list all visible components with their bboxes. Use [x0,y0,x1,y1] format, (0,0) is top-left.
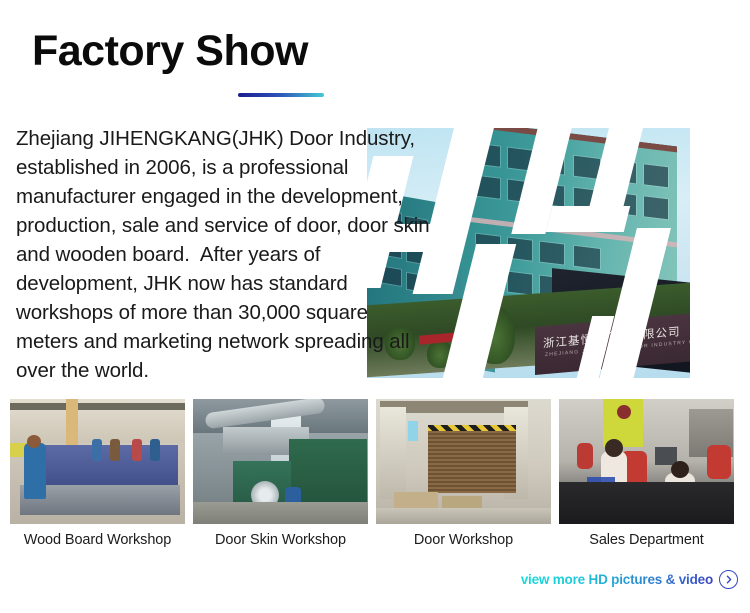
thumbnail-caption: Wood Board Workshop [10,532,185,548]
thumbnail-caption: Door Skin Workshop [193,532,368,548]
thumbnail-caption: Sales Department [559,532,734,548]
thumbnail-image[interactable] [559,399,734,524]
thumbnail-image[interactable] [376,399,551,524]
thumbnail-image[interactable] [193,399,368,524]
title-accent-rule [238,93,324,97]
thumbnail-image[interactable] [10,399,185,524]
thumbnail-sales-department[interactable]: Sales Department [559,399,734,548]
chevron-right-circle-icon[interactable] [719,570,738,589]
workshop-thumbnail-row: Wood Board Workshop Door Skin Workshop [10,399,740,548]
view-more-link[interactable]: view more HD pictures & video [521,570,738,589]
thumbnail-door-workshop[interactable]: Door Workshop [376,399,551,548]
thumbnail-caption: Door Workshop [376,532,551,548]
view-more-label: view more HD pictures & video [521,572,713,587]
thumbnail-wood-board-workshop[interactable]: Wood Board Workshop [10,399,185,548]
company-intro-paragraph: Zhejiang JIHENGKANG(JHK) Door Industry, … [16,124,434,385]
page-title: Factory Show [32,30,308,73]
thumbnail-door-skin-workshop[interactable]: Door Skin Workshop [193,399,368,548]
